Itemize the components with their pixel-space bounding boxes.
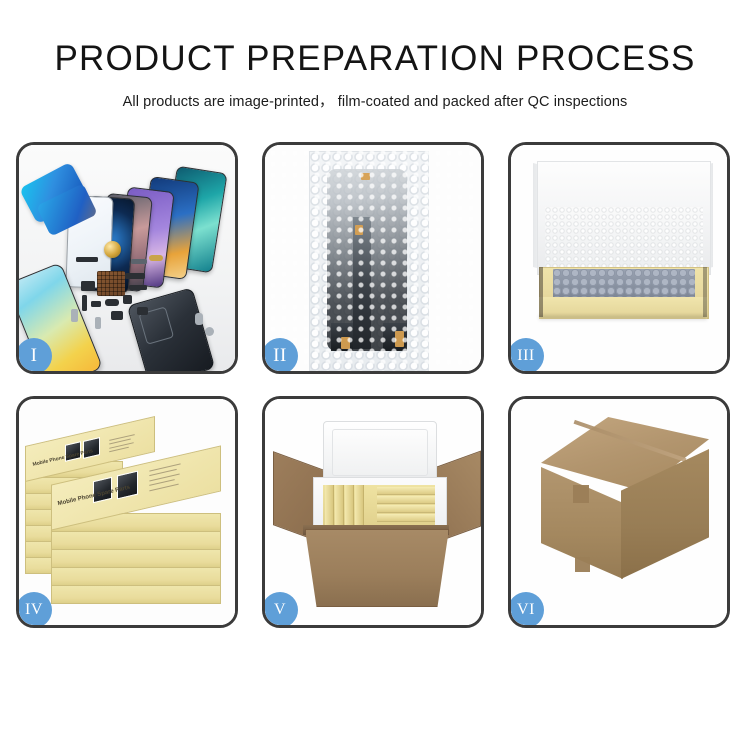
part-chip-15 bbox=[195, 313, 203, 325]
tape-bottom-right bbox=[395, 331, 404, 347]
part-chip-6 bbox=[91, 301, 101, 307]
process-panel-5[interactable]: V bbox=[262, 396, 484, 628]
tape-bottom-left bbox=[341, 337, 350, 349]
carton-tape-tab-lower bbox=[575, 557, 590, 572]
yellow-box-slat-4 bbox=[355, 485, 364, 529]
stack-box-front-5 bbox=[51, 585, 221, 604]
page-header: PRODUCT PREPARATION PROCESS All products… bbox=[0, 0, 750, 111]
process-panel-1[interactable]: I bbox=[16, 142, 238, 374]
box-stack: Mobile Phone Spare Parts Mobile Phone Sp… bbox=[25, 417, 235, 617]
carton-body bbox=[305, 529, 449, 607]
stack-box-front-4 bbox=[51, 567, 221, 586]
box-left-lip bbox=[539, 267, 543, 317]
process-panel-2[interactable]: II bbox=[262, 142, 484, 374]
page-title: PRODUCT PREPARATION PROCESS bbox=[0, 38, 750, 80]
part-chip-5 bbox=[82, 295, 87, 311]
box-drop-shadow bbox=[539, 315, 707, 320]
panel-2-image: II bbox=[265, 145, 481, 371]
panel-3-step-badge: III bbox=[511, 338, 544, 371]
part-chip-10 bbox=[125, 273, 145, 279]
part-chip-13 bbox=[71, 309, 78, 322]
packed-yellow-boxes bbox=[323, 485, 435, 529]
panel-5-step-badge: V bbox=[265, 592, 298, 625]
styrofoam-lid bbox=[323, 421, 437, 485]
process-panel-4[interactable]: Mobile Phone Spare Parts Mobile Phone Sp… bbox=[16, 396, 238, 628]
page-subtitle: All products are image-printed， film-coa… bbox=[0, 90, 750, 111]
stack-box-front-2 bbox=[51, 531, 221, 550]
part-chip-8 bbox=[111, 311, 123, 320]
part-chip-16 bbox=[205, 327, 214, 336]
panel-6-image: VI bbox=[511, 399, 727, 625]
panel-4-image: Mobile Phone Spare Parts Mobile Phone Sp… bbox=[19, 399, 235, 625]
yellow-box-slab-3 bbox=[377, 505, 435, 513]
yellow-box-slab-1 bbox=[377, 487, 435, 495]
part-chip-9 bbox=[95, 317, 101, 329]
speaker-coil-part bbox=[104, 241, 121, 258]
process-panel-6[interactable]: VI bbox=[508, 396, 730, 628]
panel-2-step-badge: II bbox=[265, 338, 298, 371]
carton-tape-tab-upper bbox=[573, 485, 589, 503]
tape-top bbox=[361, 173, 370, 180]
panel-1-image: I bbox=[19, 145, 235, 371]
part-chip-4 bbox=[81, 281, 95, 291]
yellow-box-slab-4 bbox=[377, 514, 435, 522]
process-panel-3[interactable]: III bbox=[508, 142, 730, 374]
panel-4-step-badge: IV bbox=[19, 592, 52, 625]
panel-3-image: III bbox=[511, 145, 727, 371]
yellow-box-slab-2 bbox=[377, 496, 435, 504]
yellow-box-slat-3 bbox=[345, 485, 354, 529]
part-chip-11 bbox=[129, 285, 147, 290]
part-chip-3 bbox=[149, 255, 163, 261]
panel-1-step-badge: I bbox=[19, 338, 52, 371]
panel-6-step-badge: VI bbox=[511, 592, 544, 625]
process-panel-grid: I II bbox=[16, 142, 734, 628]
foam-liner bbox=[545, 207, 703, 273]
box-right-lip bbox=[703, 267, 707, 317]
part-chip-1 bbox=[76, 257, 98, 262]
part-chip-2 bbox=[131, 259, 147, 264]
flex-cable-strip bbox=[353, 217, 371, 349]
part-chip-12 bbox=[123, 295, 132, 304]
tape-middle bbox=[355, 225, 363, 235]
part-chip-14 bbox=[137, 307, 148, 315]
stack-box-front-3 bbox=[51, 549, 221, 568]
panel-5-image: V bbox=[265, 399, 481, 625]
yellow-box-slat-2 bbox=[335, 485, 344, 529]
yellow-box-slat-1 bbox=[325, 485, 334, 529]
logic-board-part bbox=[97, 271, 125, 296]
part-chip-7 bbox=[105, 299, 119, 306]
